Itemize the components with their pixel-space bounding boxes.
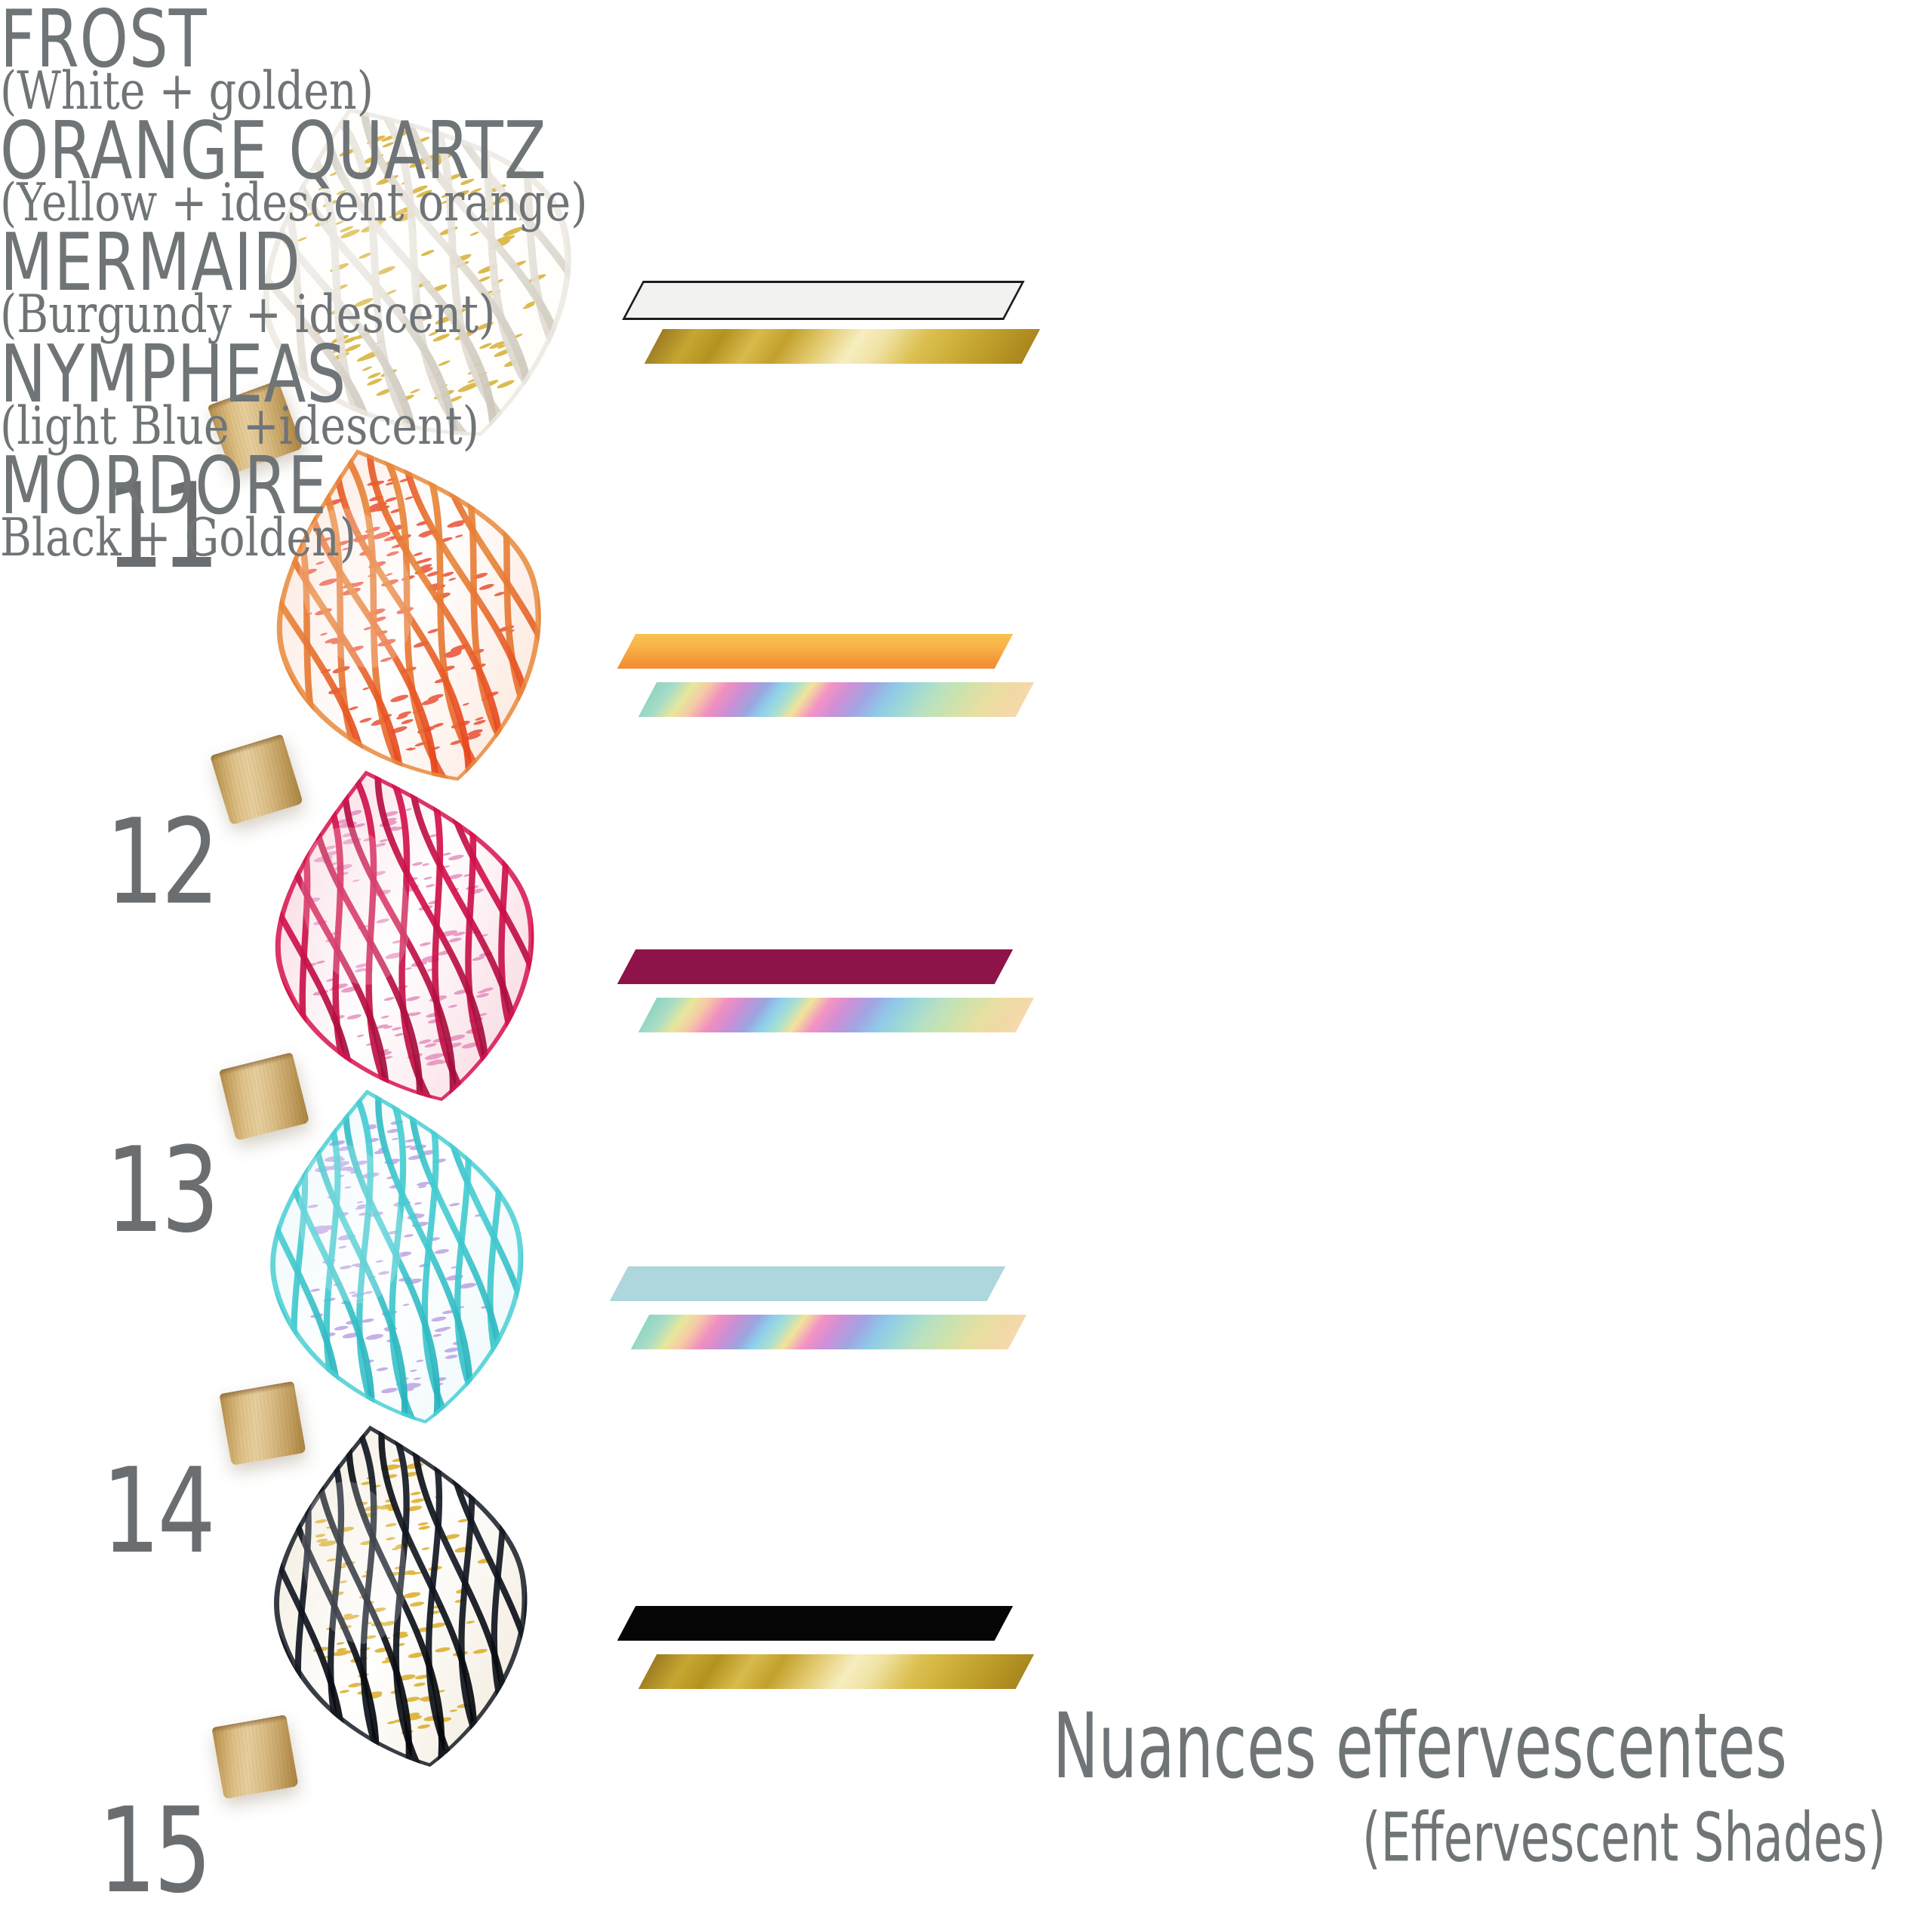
item-number-15: 15	[98, 1792, 209, 1910]
iridescent-swatch-nympheas	[631, 1315, 1026, 1349]
footer-subtitle: (Effervescent Shades)	[1362, 1804, 1886, 1872]
ornament-list: FROST(White + golden)ORANGE QUARTZ(Yello…	[0, 0, 1932, 558]
light-blue-swatch-nympheas	[610, 1266, 1005, 1301]
black-swatch-mordore	[617, 1606, 1013, 1641]
item-number-13: 13	[106, 1132, 217, 1250]
iridescent-swatch-orange-quartz	[638, 682, 1034, 717]
yellow-orange-swatch-orange-quartz	[617, 634, 1013, 669]
cap-brush-texture	[211, 1715, 298, 1799]
poster-canvas: 1112131415 FROST(White + golden)ORANGE Q…	[0, 0, 1932, 1932]
item-number-14: 14	[102, 1453, 213, 1571]
color-subtitle-mordore: Black + Golden)	[0, 512, 1777, 564]
golden-swatch-mordore	[638, 1654, 1034, 1689]
iridescent-swatch-mermaid	[638, 998, 1034, 1032]
footer-title: Nuances effervescentes	[1053, 1702, 1787, 1792]
burgundy-swatch-mermaid	[617, 949, 1013, 984]
ornament-cap-mordore	[211, 1715, 298, 1799]
